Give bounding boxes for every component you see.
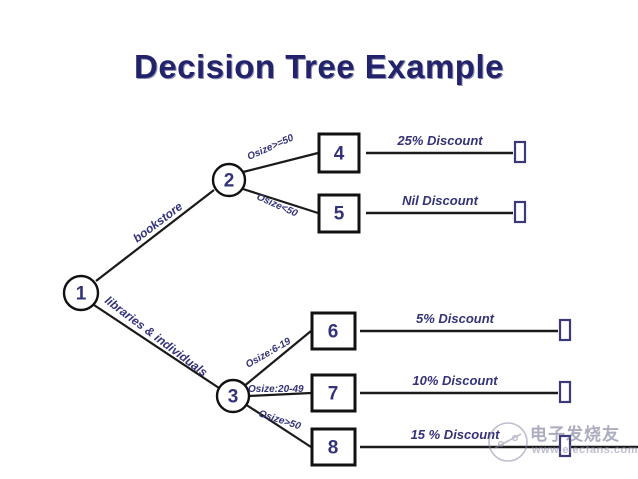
edge-label-bookstore: bookstore [130,199,185,245]
terminal-marker-5 [515,202,525,222]
node-4-label: 4 [334,144,345,165]
node-2[interactable]: 2 [213,164,245,196]
edge-label-libraries-individuals: libraries & individuals [102,293,210,379]
node-8[interactable]: 8 [312,429,355,465]
terminal-marker-7 [560,382,570,402]
edge-label-osize-gte-50: Osize>=50 [246,132,296,162]
terminal-marker-8 [560,436,570,456]
outcome-label-25-discount: 25% Discount [396,133,483,148]
node-7-label: 7 [328,384,339,405]
node-2-label: 2 [224,171,235,192]
outcome-label-5-discount: 5% Discount [416,311,495,326]
node-5-label: 5 [334,204,345,225]
terminal-markers [515,142,570,456]
node-7[interactable]: 7 [312,375,355,411]
edge-1-2 [96,190,214,281]
node-3-label: 3 [228,387,239,408]
node-5[interactable]: 5 [319,195,359,232]
decision-tree-slide: Decision Tree Example [0,0,638,479]
outcome-label-nil-discount: Nil Discount [402,193,479,208]
terminal-marker-4 [515,142,525,162]
edge-label-osize-lt-50: Osize<50 [255,192,300,220]
outcome-label-10-discount: 10% Discount [412,373,498,388]
node-6-label: 6 [328,322,339,343]
node-3[interactable]: 3 [217,380,249,412]
node-8-label: 8 [328,438,339,459]
terminal-marker-6 [560,320,570,340]
node-1[interactable]: 1 [64,276,98,310]
node-1-label: 1 [76,284,87,305]
outcome-label-15-discount: 15 % Discount [411,427,501,442]
edge-label-osize-20-49: Osize:20-49 [248,384,304,395]
edge-label-osize-gt-50: Osize>50 [257,408,302,432]
node-4[interactable]: 4 [319,134,359,172]
node-6[interactable]: 6 [312,313,355,349]
tree-edges [94,153,318,447]
decision-tree-canvas: 1 2 3 4 5 6 7 8 bo [0,0,638,479]
